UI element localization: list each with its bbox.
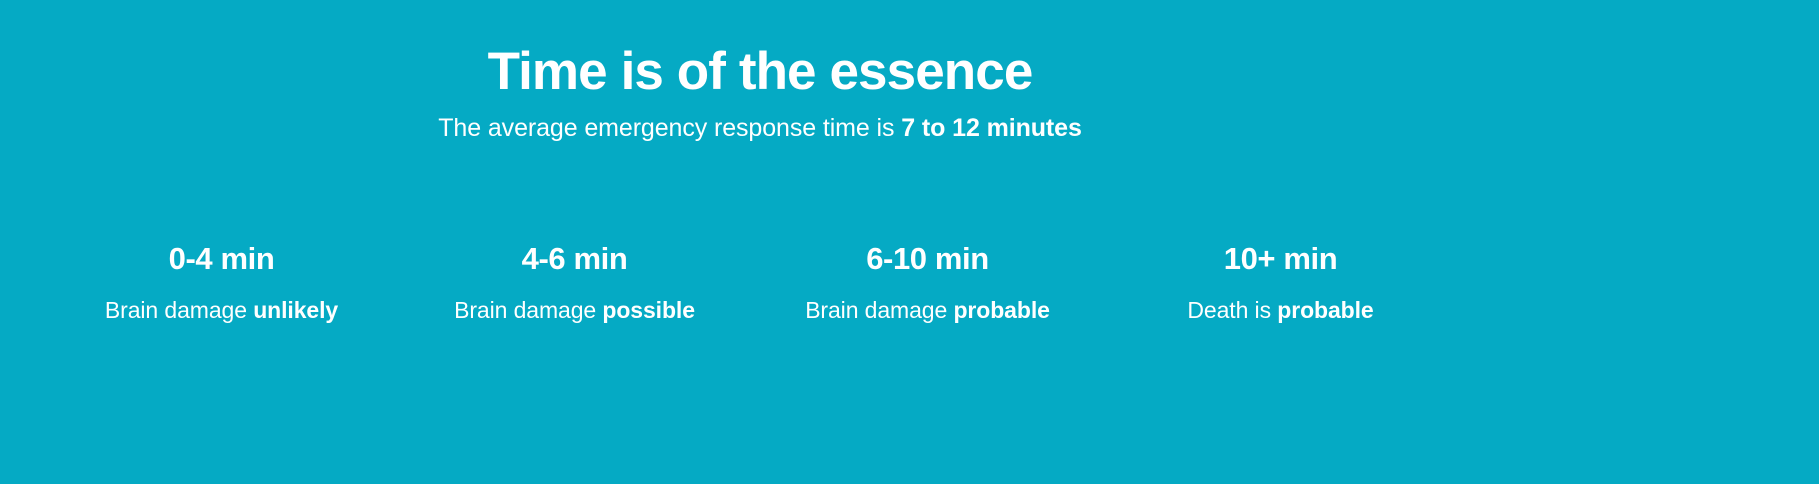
- stat-item: 6-10 min Brain damage probable: [751, 240, 1104, 325]
- stat-label-highlight-text: unlikely: [253, 297, 338, 323]
- stat-label: Death is probable: [1104, 277, 1457, 325]
- stat-item: 10+ min Death is probable: [1104, 240, 1457, 325]
- banner-subtitle: The average emergency response time is 7…: [0, 100, 1520, 144]
- stat-value: 6-10 min: [751, 240, 1104, 277]
- stat-label-lead-text: Death is: [1187, 297, 1277, 323]
- stat-label: Brain damage probable: [751, 277, 1104, 325]
- stat-label: Brain damage unlikely: [45, 277, 398, 325]
- stat-value: 4-6 min: [398, 240, 751, 277]
- banner-header: Time is of the essence The average emerg…: [0, 0, 1520, 144]
- stat-label-lead-text: Brain damage: [454, 297, 602, 323]
- stat-value: 10+ min: [1104, 240, 1457, 277]
- stat-label: Brain damage possible: [398, 277, 751, 325]
- response-time-stats: 0-4 min Brain damage unlikely 4-6 min Br…: [45, 240, 1457, 325]
- subtitle-highlight-text: 7 to 12 minutes: [901, 114, 1082, 142]
- emergency-response-banner: Time is of the essence The average emerg…: [0, 0, 1819, 484]
- page-title: Time is of the essence: [0, 0, 1520, 100]
- stat-label-lead-text: Brain damage: [805, 297, 953, 323]
- stat-item: 0-4 min Brain damage unlikely: [45, 240, 398, 325]
- stat-label-highlight-text: probable: [953, 297, 1049, 323]
- stat-value: 0-4 min: [45, 240, 398, 277]
- stat-label-highlight-text: probable: [1277, 297, 1373, 323]
- stat-item: 4-6 min Brain damage possible: [398, 240, 751, 325]
- stat-label-highlight-text: possible: [602, 297, 695, 323]
- subtitle-lead-text: The average emergency response time is: [438, 114, 901, 142]
- stat-label-lead-text: Brain damage: [105, 297, 253, 323]
